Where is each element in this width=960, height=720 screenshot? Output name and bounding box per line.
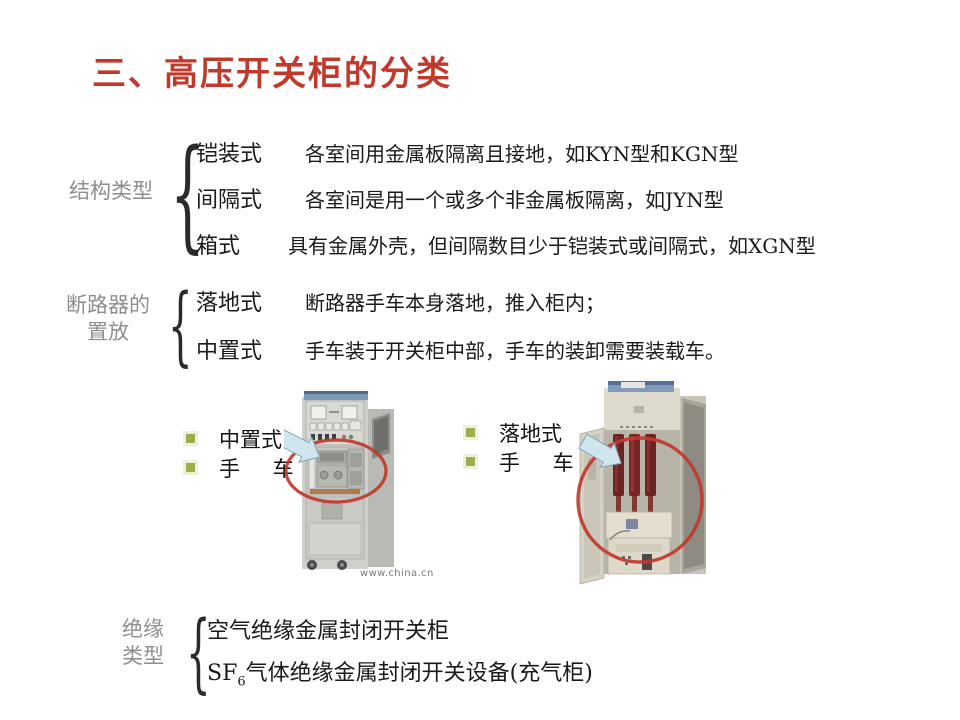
term-floor-mounted: 落地式 [196,285,262,317]
bullet-square-icon [186,434,195,443]
figure-image-mid-mounted [284,383,416,583]
brace-breaker-placement: { [168,283,193,369]
photo-watermark: www.china.cn [360,568,434,579]
sf6-prefix: SF [207,661,237,686]
slide-root: 三、高压开关柜的分类 结构类型 { 铠装式 各室间用金属板隔离且接地，如KYN型… [0,0,960,720]
term-armored: 铠装式 [196,136,262,168]
bullet-square-icon [466,428,475,437]
section-label-line-2: 类型 [104,643,182,670]
section-label-breaker-placement: 断路器的 置放 [48,292,168,346]
desc-mid-mounted: 手车装于开关柜中部，手车的装卸需要装载车。 [305,335,725,364]
term-mid-mounted: 中置式 [196,333,262,365]
desc-air-insulated: 空气绝缘金属封闭开关柜 [207,613,449,645]
section-label-line-2: 置放 [48,319,168,346]
section-label-line-1: 绝缘 [104,616,182,643]
desc-floor-mounted: 断路器手车本身落地，推入柜内； [305,287,605,316]
section-label-insulation-type: 绝缘 类型 [104,616,182,670]
desc-compartmented: 各室间是用一个或多个非金属板隔离，如JYN型 [305,184,724,213]
page-title: 三、高压开关柜的分类 [92,46,452,95]
caption-line-1: 中置式 [219,424,282,454]
figure-image-floor-mounted [566,378,716,590]
mid-mounted-switchgear-illustration [284,383,416,583]
sf6-rest: 气体绝缘金属封闭开关设备(充气柜) [246,661,593,686]
vacuum-interrupter-poles [613,434,656,514]
section-label-line-1: 断路器的 [48,292,168,319]
desc-sf6-insulated: SF6气体绝缘金属封闭开关设备(充气柜) [207,655,593,689]
sf6-subscript: 6 [237,674,245,689]
bullet-square-icon [186,463,195,472]
floor-mounted-breaker-illustration [566,378,716,590]
term-box-type: 箱式 [196,228,240,260]
bullet-square-icon [466,457,475,466]
desc-box-type: 具有金属外壳，但间隔数目少于铠装式或间隔式，如XGN型 [288,230,816,259]
desc-armored: 各室间用金属板隔离且接地，如KYN型和KGN型 [305,138,739,167]
caption-line-1: 落地式 [499,418,562,448]
section-label-structure-type: 结构类型 [56,178,166,205]
term-compartmented: 间隔式 [196,182,262,214]
